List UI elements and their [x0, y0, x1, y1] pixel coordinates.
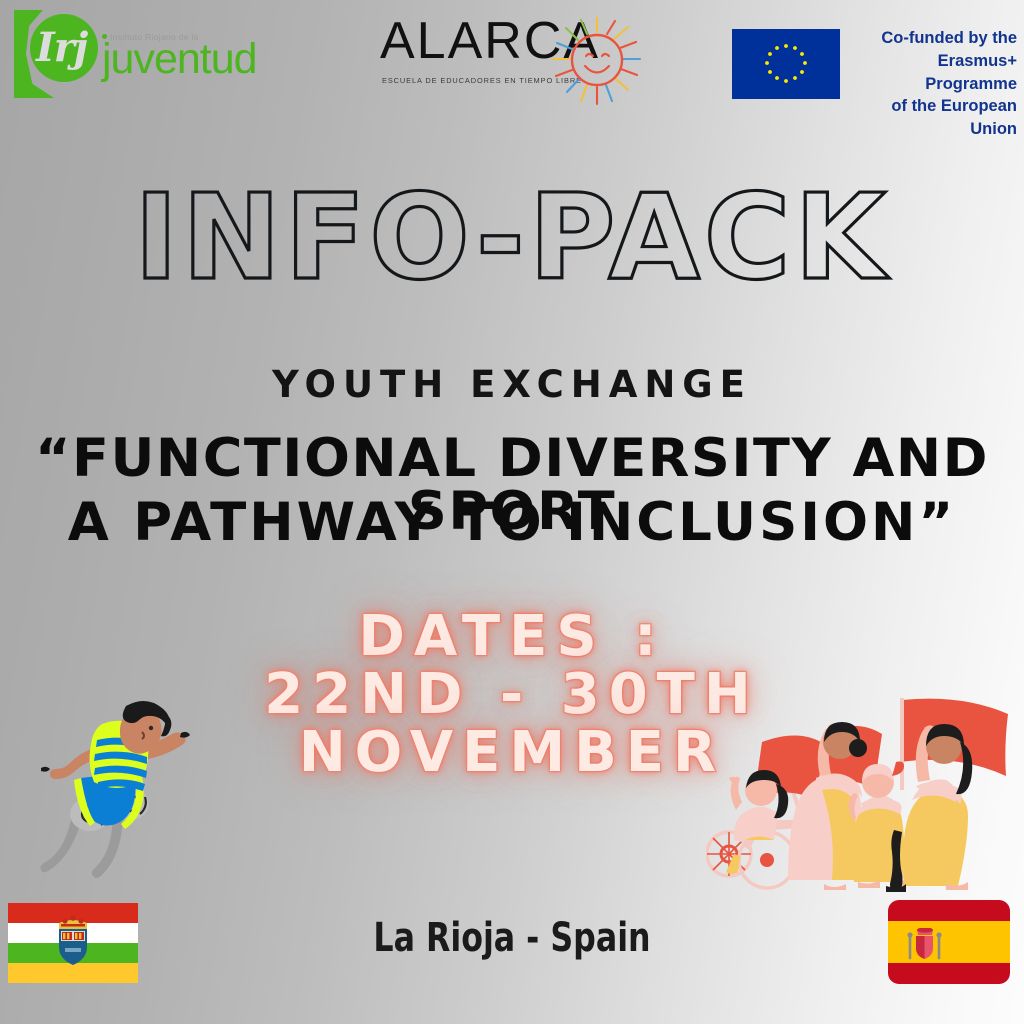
la-rioja-flag-icon — [8, 903, 138, 983]
running-athlete-with-prosthetic-legs-illustration — [18, 686, 218, 896]
programme-type-label: YOUTH EXCHANGE — [0, 363, 1024, 406]
irj-monogram: Irj — [36, 22, 94, 74]
group-with-flags-inclusion-illustration — [706, 690, 1024, 892]
irj-wordmark: juventud — [102, 38, 257, 81]
erasmus-eu-logo: Co-funded by the Erasmus+ Programme of t… — [732, 27, 1017, 99]
funding-line-2: Erasmus+ Programme — [858, 50, 1017, 96]
irj-logo-mark: Irj — [10, 8, 96, 98]
irj-juventud-logo: Irj Instituto Riojano de la juventud — [10, 8, 280, 103]
dates-label: DATES : — [0, 608, 1024, 666]
page-title: INFO-PACK — [0, 178, 1024, 296]
spain-flag-icon — [888, 900, 1010, 984]
european-union-flag-icon — [732, 29, 840, 99]
erasmus-funding-text: Co-funded by the Erasmus+ Programme of t… — [858, 27, 1017, 141]
la-rioja-coat-of-arms-icon — [55, 915, 91, 967]
alarca-logo: ALARCA ESCUELA DE EDUCADORES EN TIEMPO L… — [380, 14, 660, 100]
header-logo-row: Irj Instituto Riojano de la juventud ALA… — [0, 0, 1024, 110]
poster-canvas: Irj Instituto Riojano de la juventud ALA… — [0, 0, 1024, 1024]
spain-coat-of-arms-icon — [905, 928, 945, 960]
funding-line-3: of the European Union — [858, 95, 1017, 141]
location-label: La Rioja - Spain — [61, 915, 962, 961]
sun-smiley-icon — [552, 16, 642, 106]
funding-line-1: Co-funded by the — [858, 27, 1017, 50]
project-title-line-2: A PATHWAY TO INCLUSION” — [0, 496, 1024, 549]
